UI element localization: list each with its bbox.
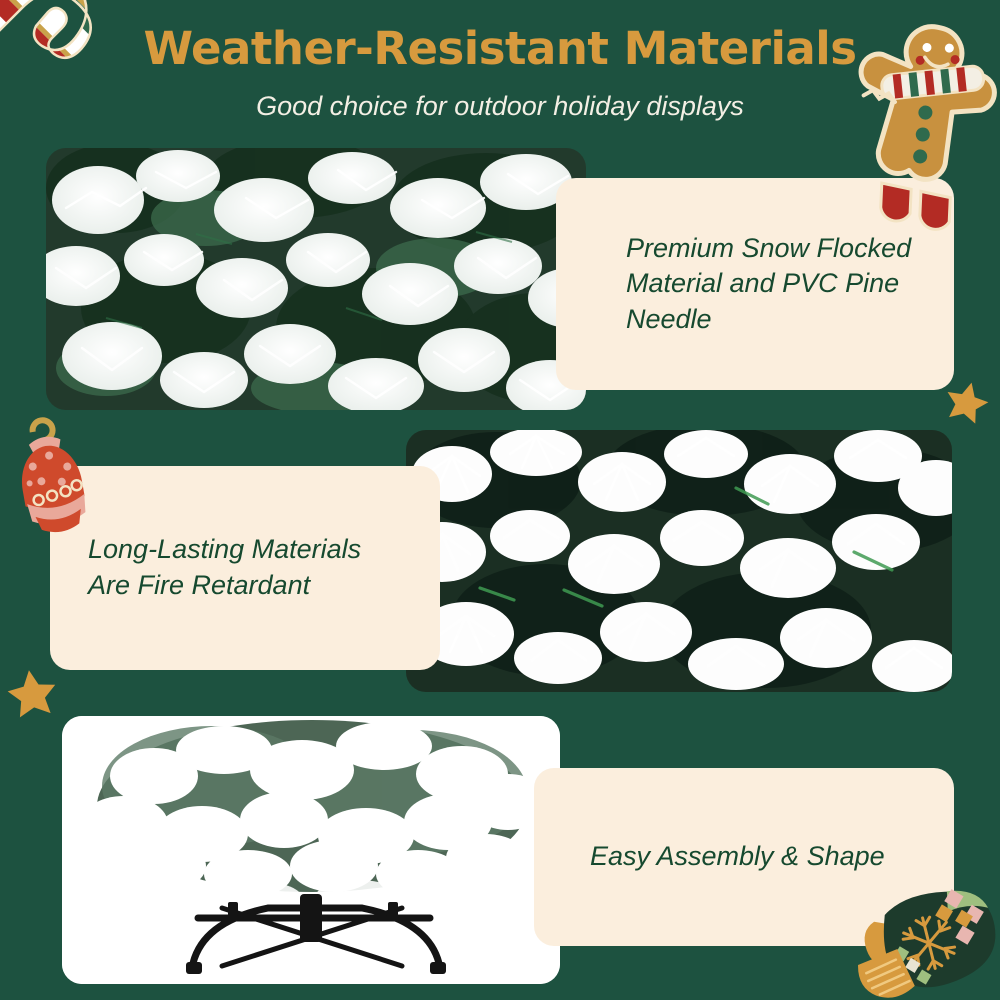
star-icon	[944, 378, 990, 424]
flocked-branches-illustration	[46, 148, 586, 410]
candy-cane-icon	[0, 0, 126, 134]
needle-macro-illustration	[406, 430, 952, 692]
feature-text: Premium Snow Flocked Material and PVC Pi…	[556, 231, 911, 338]
star-icon	[6, 666, 58, 718]
christmas-ornament-icon	[0, 414, 102, 546]
feature-photo-tree-stand	[62, 716, 560, 984]
infographic-canvas: Weather-Resistant Materials Good choice …	[0, 0, 1000, 1000]
feature-photo-flocked-branches	[46, 148, 586, 410]
mitten-icon	[846, 876, 1000, 1000]
candy-cane-glyph	[0, 0, 126, 134]
feature-photo-needle-macro	[406, 430, 952, 692]
feature-callout-fire-retardant: Long-Lasting Materials Are Fire Retardan…	[50, 466, 440, 670]
tree-stand-illustration	[62, 716, 560, 984]
gingerbread-man-glyph	[836, 4, 1000, 234]
gingerbread-man-icon	[836, 4, 1000, 234]
star-glyph	[6, 666, 58, 718]
mitten-glyph	[846, 876, 1000, 1000]
feature-text: Easy Assembly & Shape	[534, 839, 885, 875]
star-glyph	[944, 378, 990, 424]
christmas-ornament-glyph	[0, 414, 102, 546]
